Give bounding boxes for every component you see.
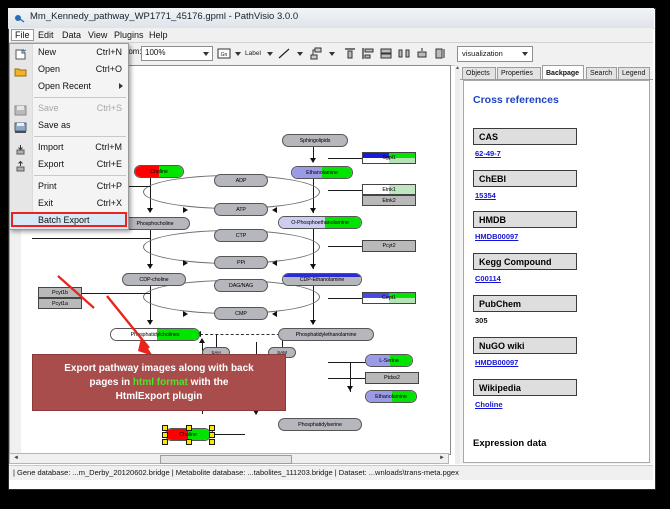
node-atp[interactable]: ATP bbox=[214, 203, 268, 216]
node-sgpl1[interactable]: Sgpl1 bbox=[362, 152, 416, 164]
xref-card-nugo: NuGO wiki bbox=[473, 337, 577, 354]
arrow-left-icon bbox=[272, 311, 277, 317]
menu-bar: File Edit Data View Plugins Help bbox=[9, 28, 653, 43]
menu-item-accel: Ctrl+M bbox=[95, 142, 122, 152]
scroll-left-icon[interactable]: ◄ bbox=[11, 455, 21, 462]
node-label: Choline bbox=[150, 169, 168, 175]
app-window: Mm_Kennedy_pathway_WP1771_45176.gpml - P… bbox=[0, 0, 670, 509]
menu-item-accel: Ctrl+S bbox=[97, 103, 122, 113]
menu-divider bbox=[34, 97, 126, 98]
node-label: Phosphocholine bbox=[137, 221, 174, 227]
xref-value-kegg[interactable]: C00114 bbox=[475, 274, 501, 283]
menu-item-import[interactable]: Import Ctrl+M bbox=[10, 139, 128, 156]
menu-divider bbox=[34, 136, 126, 137]
common-width-tool-button[interactable] bbox=[415, 46, 429, 61]
menu-item-save: Save Ctrl+S bbox=[10, 100, 128, 117]
node-cmp[interactable]: CMP bbox=[214, 307, 268, 320]
arrow-down-icon bbox=[347, 386, 353, 391]
edge-sgpl1-link bbox=[328, 158, 362, 159]
edge-etnk-link bbox=[328, 190, 362, 191]
node-label: Ethanolamine bbox=[306, 170, 338, 176]
menu-data[interactable]: Data bbox=[58, 29, 85, 41]
node-pcyt2[interactable]: Pcyt2 bbox=[362, 240, 416, 252]
node-label: ADP bbox=[236, 178, 247, 184]
stack-tool-button[interactable] bbox=[379, 46, 393, 61]
menu-item-accel: Ctrl+O bbox=[96, 64, 122, 74]
node-label: CDP-choline bbox=[139, 277, 168, 283]
node-adp[interactable]: ADP bbox=[214, 174, 268, 187]
menu-item-accel: Ctrl+N bbox=[96, 47, 122, 57]
chevron-down-icon bbox=[522, 52, 528, 56]
menu-item-batch-export[interactable]: Batch Export bbox=[10, 212, 128, 229]
selection-handle-e[interactable] bbox=[209, 432, 215, 438]
zoom-value: 100% bbox=[145, 48, 165, 57]
edge-ptdss2-stub bbox=[328, 378, 366, 379]
menu-plugins[interactable]: Plugins bbox=[110, 29, 148, 41]
xref-value-chebi[interactable]: 15354 bbox=[475, 191, 496, 200]
node-label: Sgpl1 bbox=[382, 155, 395, 161]
arrow-right-icon bbox=[183, 311, 188, 317]
edge-lserine-link bbox=[328, 362, 366, 363]
arrow-right-icon bbox=[183, 260, 188, 266]
callout-line-2b: html format bbox=[133, 377, 188, 388]
menu-item-accel: Ctrl+P bbox=[97, 181, 122, 191]
menu-view[interactable]: View bbox=[84, 29, 111, 41]
node-label: CMP bbox=[235, 311, 247, 317]
line-tool-button[interactable] bbox=[277, 46, 291, 61]
label-dropdown-icon[interactable] bbox=[267, 52, 273, 56]
menu-help[interactable]: Help bbox=[145, 29, 172, 41]
arrow-down-icon bbox=[310, 158, 316, 163]
menu-item-label: Save bbox=[38, 103, 59, 113]
node-ethanolamine[interactable]: Ethanolamine bbox=[291, 166, 353, 179]
right-panel: Objects Properties Backpage Search Legen… bbox=[460, 65, 653, 464]
node-etnk1[interactable]: Etnk1 bbox=[362, 184, 416, 195]
edge-left-rail-mid bbox=[32, 238, 150, 239]
status-text: | Gene database: ...m_Derby_20120602.bri… bbox=[13, 468, 459, 477]
callout-line-2a: pages in bbox=[90, 377, 133, 388]
menu-item-label: Open bbox=[38, 64, 60, 74]
xref-name: HMDB bbox=[479, 215, 506, 225]
menu-item-label: Import bbox=[38, 142, 64, 152]
node-label: Sphingolipids bbox=[300, 138, 331, 144]
node-label: Etnk2 bbox=[382, 198, 395, 204]
node-label: Cept1 bbox=[382, 295, 396, 301]
menu-item-label: Batch Export bbox=[38, 215, 90, 225]
menu-item-accel: Ctrl+E bbox=[97, 159, 122, 169]
xref-card-chebi: ChEBI bbox=[473, 170, 577, 187]
align-top-tool-button[interactable] bbox=[343, 46, 357, 61]
node-dag-nag[interactable]: DAG/NAG bbox=[214, 279, 268, 292]
menu-item-label: Export bbox=[38, 159, 64, 169]
status-bar: | Gene database: ...m_Derby_20120602.bri… bbox=[9, 465, 653, 480]
xref-value-nugo[interactable]: HMDB00097 bbox=[475, 358, 518, 367]
menu-divider bbox=[34, 175, 126, 176]
xref-card-pubchem: PubChem bbox=[473, 295, 577, 312]
node-label: Phosphatidylethanolamine bbox=[296, 332, 357, 338]
node-label: Ptdss2 bbox=[384, 375, 400, 381]
label-tool-text: Label bbox=[245, 50, 261, 57]
menu-item-exit[interactable]: Exit Ctrl+X bbox=[10, 195, 128, 212]
menu-item-new[interactable]: New Ctrl+N bbox=[10, 44, 128, 61]
menu-edit[interactable]: Edit bbox=[34, 29, 58, 41]
new-document-icon bbox=[14, 47, 27, 58]
save-as-icon bbox=[14, 120, 27, 131]
node-cept1[interactable]: Cept1 bbox=[362, 292, 416, 304]
visualization-value: visualization bbox=[462, 49, 503, 58]
align-left-tool-button[interactable] bbox=[361, 46, 375, 61]
xref-card-hmdb: HMDB bbox=[473, 211, 577, 228]
scrollbar-thumb[interactable] bbox=[160, 455, 292, 464]
xref-name: PubChem bbox=[479, 299, 521, 309]
xref-value-pubchem: 305 bbox=[475, 316, 488, 325]
interaction-tool-button[interactable] bbox=[309, 46, 323, 61]
node-label: ATP bbox=[236, 207, 246, 213]
node-phosphocholine[interactable]: Phosphocholine bbox=[120, 217, 190, 230]
node-cdp-ethanolamine[interactable]: CDP-Ethanolamine bbox=[282, 273, 362, 286]
svg-text:Gn: Gn bbox=[221, 52, 228, 58]
annotation-callout: Export pathway images along with back pa… bbox=[32, 354, 286, 411]
node-label: Ethanolamine bbox=[375, 394, 407, 400]
selection-handle-se[interactable] bbox=[209, 439, 215, 445]
edge-pcyt2-link bbox=[328, 246, 362, 247]
annotation-text: Export pathway images along with back pa… bbox=[58, 362, 260, 404]
xref-value-hmdb[interactable]: HMDB00097 bbox=[475, 232, 518, 241]
visualization-combobox[interactable]: visualization bbox=[457, 46, 533, 62]
datanode-tool-button[interactable]: Gn bbox=[217, 46, 231, 61]
node-label: L-Serine bbox=[379, 358, 399, 364]
node-o-phosphoethanolamine[interactable]: O-Phosphoethanolamine bbox=[278, 216, 362, 229]
edge-sah-branch bbox=[216, 334, 217, 348]
menu-item-label: Save as bbox=[38, 120, 71, 130]
xref-name: Kegg Compound bbox=[479, 257, 552, 267]
selection-handle-nw[interactable] bbox=[162, 425, 168, 431]
xref-name: ChEBI bbox=[479, 174, 506, 184]
menu-item-label: Open Recent bbox=[38, 81, 91, 91]
selection-handle-sw[interactable] bbox=[162, 439, 168, 445]
node-phosphatidylethanolamine[interactable]: Phosphatidylethanolamine bbox=[278, 328, 374, 341]
node-label: Choline bbox=[179, 432, 197, 438]
xref-card-kegg: Kegg Compound bbox=[473, 253, 577, 270]
selection-handle-s[interactable] bbox=[186, 439, 192, 445]
selection-handle-ne[interactable] bbox=[209, 425, 215, 431]
arrow-down-icon bbox=[147, 208, 153, 213]
export-icon bbox=[14, 159, 27, 170]
node-label: DAG/NAG bbox=[229, 283, 253, 289]
menu-item-open[interactable]: Open Ctrl+O bbox=[10, 61, 128, 78]
distribute-tool-button[interactable] bbox=[397, 46, 411, 61]
node-etnk2[interactable]: Etnk2 bbox=[362, 195, 416, 206]
menu-item-print[interactable]: Print Ctrl+P bbox=[10, 178, 128, 195]
menu-file[interactable]: File bbox=[11, 29, 34, 41]
interaction-dropdown-icon[interactable] bbox=[329, 52, 335, 56]
node-label: CTP bbox=[236, 233, 246, 239]
node-label: PPi bbox=[237, 260, 245, 266]
arrow-down-icon bbox=[310, 208, 316, 213]
edge-pc-pe-methylation bbox=[200, 334, 290, 335]
scroll-right-icon[interactable]: ► bbox=[437, 455, 447, 462]
node-label: CDP-Ethanolamine bbox=[300, 277, 345, 283]
xref-name: Wikipedia bbox=[479, 383, 521, 393]
menu-item-open-recent[interactable]: Open Recent bbox=[10, 78, 128, 95]
arrow-up-icon bbox=[199, 338, 205, 343]
xref-name: CAS bbox=[479, 132, 498, 142]
callout-line-2c: with the bbox=[188, 377, 229, 388]
node-phosphatidylserine[interactable]: Phosphatidylserine bbox=[278, 418, 362, 431]
canvas-horizontal-scrollbar[interactable]: ◄ ► bbox=[9, 453, 449, 464]
menu-item-accel: Ctrl+X bbox=[97, 198, 122, 208]
import-icon bbox=[14, 142, 27, 153]
window-title: Mm_Kennedy_pathway_WP1771_45176.gpml - P… bbox=[30, 11, 298, 22]
selection-handle-n[interactable] bbox=[186, 425, 192, 431]
edge-choline-selected-link bbox=[211, 434, 245, 435]
node-label: O-Phosphoethanolamine bbox=[291, 220, 349, 226]
arrow-left-icon bbox=[272, 260, 277, 266]
menu-item-label: New bbox=[38, 47, 56, 57]
right-panel-tabs: Objects Properties Backpage Search Legen… bbox=[460, 65, 653, 80]
node-label: Phosphatidylserine bbox=[298, 422, 342, 428]
node-l-serine[interactable]: L-Serine bbox=[365, 354, 413, 367]
arrow-down-icon bbox=[310, 320, 316, 325]
callout-line-3: HtmlExport plugin bbox=[116, 391, 203, 402]
title-bar: Mm_Kennedy_pathway_WP1771_45176.gpml - P… bbox=[8, 8, 654, 29]
xref-name: NuGO wiki bbox=[479, 341, 525, 351]
arrow-right-icon bbox=[183, 207, 188, 213]
node-choline[interactable]: Choline bbox=[134, 165, 184, 178]
node-ptdss2[interactable]: Ptdss2 bbox=[365, 372, 419, 384]
expression-data-heading: Expression data bbox=[473, 438, 546, 449]
arrow-left-icon bbox=[272, 207, 277, 213]
node-ctp[interactable]: CTP bbox=[214, 229, 268, 242]
node-ppi[interactable]: PPi bbox=[214, 256, 268, 269]
chevron-down-icon bbox=[203, 52, 209, 56]
xref-card-cas: CAS bbox=[473, 128, 577, 145]
submenu-arrow-icon bbox=[119, 83, 123, 89]
edge-cept1-link bbox=[328, 298, 362, 299]
backpage-content: Cross references CAS 62-49-7 ChEBI 15354… bbox=[463, 80, 650, 463]
line-dropdown-icon[interactable] bbox=[297, 52, 303, 56]
node-ethanolamine-2[interactable]: Ethanolamine bbox=[365, 390, 417, 403]
node-label: Pcyt2 bbox=[383, 243, 396, 249]
datanode-dropdown-icon[interactable] bbox=[235, 52, 241, 56]
node-label: Etnk1 bbox=[382, 187, 395, 193]
annotation-arrow-tail-icon bbox=[54, 274, 114, 314]
arrow-down-icon bbox=[147, 264, 153, 269]
pathvisio-app-icon bbox=[14, 12, 26, 24]
open-folder-icon bbox=[14, 64, 27, 75]
file-menu-dropdown[interactable]: New Ctrl+N Open Ctrl+O Open Recent Save … bbox=[9, 43, 129, 230]
menu-item-save-as[interactable]: Save as bbox=[10, 117, 128, 134]
tab-backpage[interactable]: Backpage bbox=[542, 65, 584, 80]
callout-line-1: Export pathway images along with back bbox=[64, 363, 254, 374]
node-sphingolipids[interactable]: Sphingolipids bbox=[282, 134, 348, 147]
menu-item-export[interactable]: Export Ctrl+E bbox=[10, 156, 128, 173]
zoom-combobox[interactable]: 100% bbox=[141, 46, 213, 61]
menu-item-label: Exit bbox=[38, 198, 53, 208]
node-cdp-choline[interactable]: CDP-choline bbox=[122, 273, 186, 286]
selection-handle-w[interactable] bbox=[162, 432, 168, 438]
common-height-tool-button[interactable] bbox=[433, 46, 447, 61]
save-disk-icon bbox=[14, 103, 27, 114]
menu-item-label: Print bbox=[38, 181, 57, 191]
xref-value-cas[interactable]: 62-49-7 bbox=[475, 149, 501, 158]
xref-card-wikipedia: Wikipedia bbox=[473, 379, 577, 396]
arrow-down-icon bbox=[310, 264, 316, 269]
xref-value-wikipedia[interactable]: Choline bbox=[475, 400, 503, 409]
cross-references-heading: Cross references bbox=[473, 94, 559, 106]
